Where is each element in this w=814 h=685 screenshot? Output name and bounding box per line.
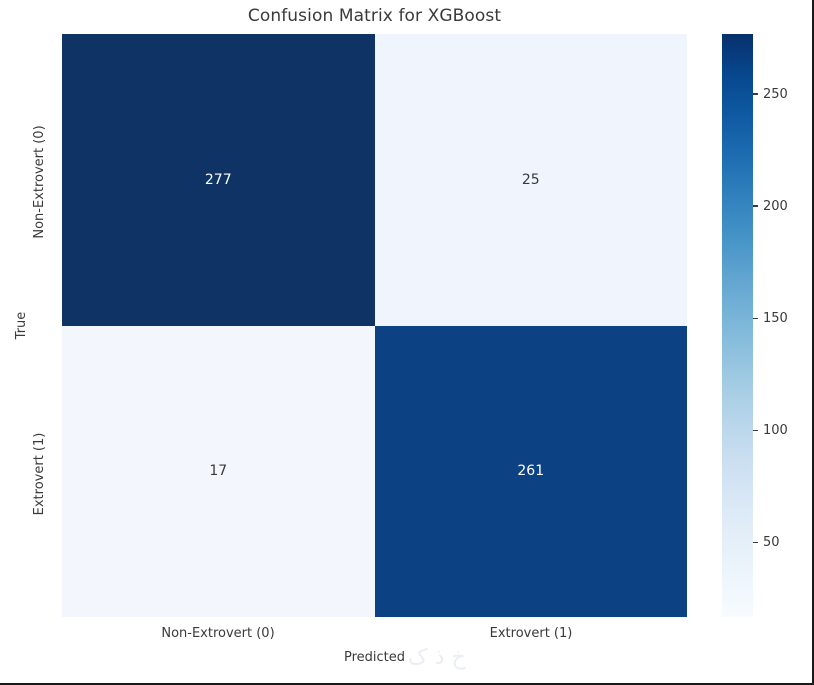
colorbar-tick-label: 250 xyxy=(763,87,788,102)
cell-value: 17 xyxy=(209,463,227,479)
colorbar-tick-150: 150 xyxy=(753,311,788,326)
x-axis-tick-label-0: Non-Extrovert (0) xyxy=(62,626,374,641)
colorbar: 50100150200250 xyxy=(722,34,753,617)
colorbar-tick-200: 200 xyxy=(753,199,788,214)
colorbar-tick-50: 50 xyxy=(753,535,780,550)
colorbar-tick-label: 100 xyxy=(763,423,788,438)
cell-value: 25 xyxy=(522,172,540,188)
colorbar-tick-mark xyxy=(753,93,758,95)
heatmap-cell-true1-pred0: 17 xyxy=(62,326,375,618)
x-axis-label: Predicted xyxy=(62,650,687,665)
colorbar-tick-100: 100 xyxy=(753,423,788,438)
cell-value: 277 xyxy=(205,172,232,188)
y-axis-tick-label-1: Extrovert (1) xyxy=(24,324,54,624)
colorbar-tick-250: 250 xyxy=(753,87,788,102)
y-axis-tick-label-0: Non-Extrovert (0) xyxy=(24,32,54,332)
colorbar-tick-label: 50 xyxy=(763,535,780,550)
colorbar-tick-mark xyxy=(753,542,758,544)
colorbar-tick-mark xyxy=(753,318,758,320)
confusion-matrix-figure: Confusion Matrix for XGBoost 277 25 17 2… xyxy=(0,0,814,685)
heatmap-cell-true0-pred1: 25 xyxy=(375,34,688,326)
heatmap-cell-true0-pred0: 277 xyxy=(62,34,375,326)
colorbar-tick-label: 200 xyxy=(763,199,788,214)
colorbar-tick-label: 150 xyxy=(763,311,788,326)
heatmap-grid: 277 25 17 261 xyxy=(62,34,687,617)
colorbar-gradient xyxy=(722,34,753,617)
colorbar-tick-mark xyxy=(753,430,758,432)
page-title: Confusion Matrix for XGBoost xyxy=(62,6,687,26)
heatmap-cell-true1-pred1: 261 xyxy=(375,326,688,618)
cell-value: 261 xyxy=(517,463,544,479)
x-axis-tick-label-1: Extrovert (1) xyxy=(375,626,687,641)
colorbar-tick-mark xyxy=(753,205,758,207)
